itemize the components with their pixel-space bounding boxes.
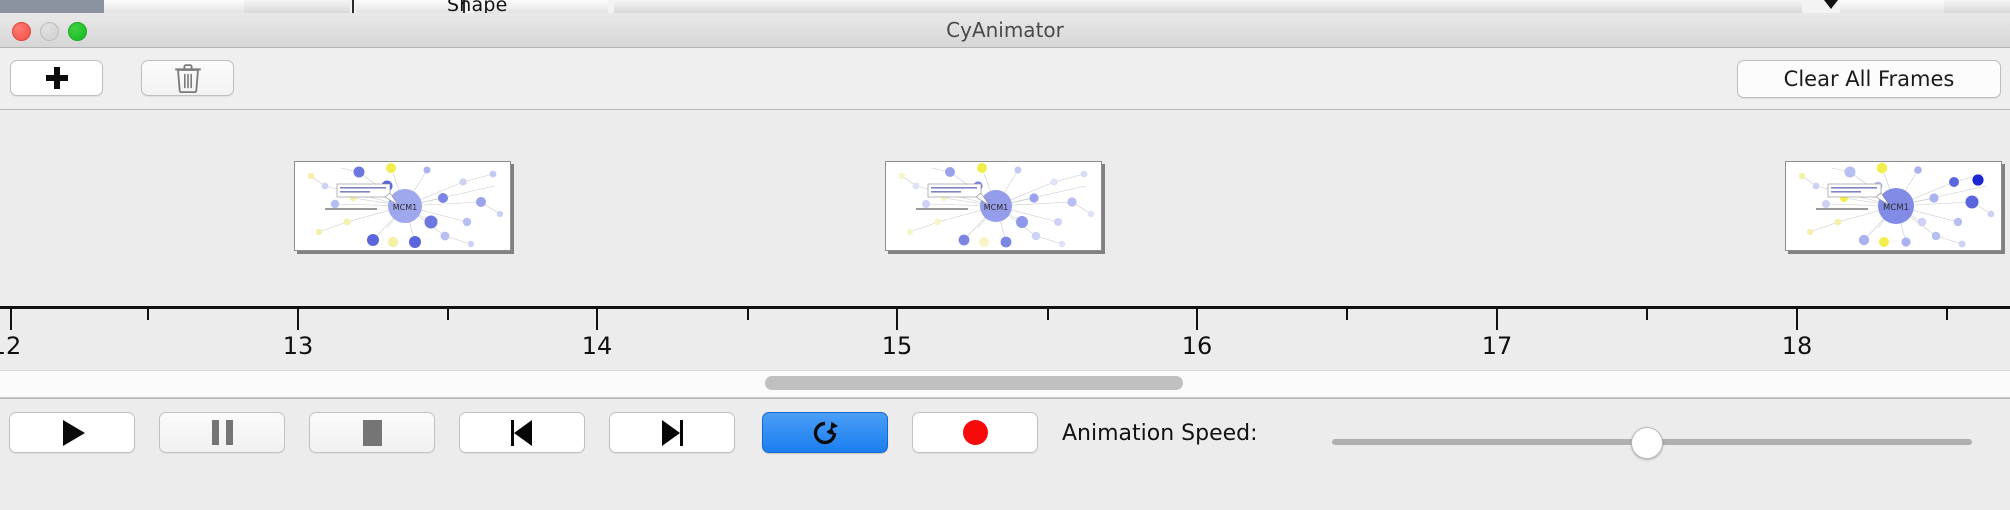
axis-tick-major bbox=[1196, 309, 1198, 330]
timeline-scrollbar[interactable] bbox=[0, 370, 2010, 398]
trash-icon bbox=[175, 63, 201, 93]
axis-tick-major bbox=[1496, 309, 1498, 330]
animation-speed-slider-thumb[interactable] bbox=[1631, 427, 1663, 459]
bg-segment-g bbox=[1944, 0, 2010, 13]
axis-tick-label: 15 bbox=[882, 332, 913, 360]
play-icon bbox=[63, 420, 85, 446]
bg-segment-a bbox=[104, 0, 244, 13]
record-icon bbox=[963, 420, 988, 445]
clear-all-frames-label: Clear All Frames bbox=[1784, 67, 1955, 91]
play-button[interactable] bbox=[9, 412, 135, 453]
pause-button[interactable] bbox=[159, 412, 285, 453]
axis-tick-major bbox=[596, 309, 598, 330]
frame-toolbar: Clear All Frames bbox=[0, 48, 2010, 110]
bg-segment-dark bbox=[0, 0, 104, 13]
timeline-scrollbar-thumb[interactable] bbox=[765, 376, 1183, 390]
axis-tick-major bbox=[896, 309, 898, 330]
axis-tick-label: 13 bbox=[283, 332, 314, 360]
timeline-axis-line bbox=[0, 306, 2010, 309]
axis-tick-label: 14 bbox=[582, 332, 613, 360]
playback-control-bar: Animation Speed: bbox=[0, 398, 2010, 467]
bg-segment-e bbox=[614, 0, 1802, 13]
loop-button[interactable] bbox=[762, 412, 888, 453]
axis-tick-minor bbox=[447, 309, 449, 320]
axis-tick-minor bbox=[747, 309, 749, 320]
add-frame-button[interactable] bbox=[10, 60, 103, 96]
axis-tick-minor bbox=[1946, 309, 1948, 320]
svg-text:MCM1: MCM1 bbox=[1883, 203, 1909, 213]
window-title: CyAnimator bbox=[0, 13, 2010, 47]
stop-button[interactable] bbox=[309, 412, 435, 453]
axis-tick-minor bbox=[147, 309, 149, 320]
network-graph-icon: MCM1 bbox=[1786, 162, 2001, 250]
cyanimator-window: CyAnimator Clear All Frames bbox=[0, 13, 2010, 510]
axis-tick-major bbox=[1796, 309, 1798, 330]
axis-tick-label: 18 bbox=[1782, 332, 1813, 360]
svg-text:MCM1: MCM1 bbox=[984, 203, 1008, 212]
axis-tick-label: 17 bbox=[1482, 332, 1513, 360]
skip-to-end-button[interactable] bbox=[609, 412, 735, 453]
timeline-frame-thumbnail-3[interactable]: MCM1 bbox=[1785, 161, 2002, 251]
axis-tick-major bbox=[10, 309, 12, 330]
axis-tick-label: 16 bbox=[1182, 332, 1213, 360]
bg-divider-1 bbox=[352, 0, 354, 13]
cyanimator-window-screenshot: Shape CyAnimator bbox=[0, 0, 2010, 510]
window-titlebar[interactable]: CyAnimator bbox=[0, 13, 2010, 48]
clear-all-frames-button[interactable]: Clear All Frames bbox=[1737, 60, 2001, 98]
axis-tick-label: 12 bbox=[0, 332, 21, 360]
stop-icon bbox=[363, 420, 382, 446]
skip-start-icon bbox=[509, 420, 535, 446]
bg-caret-icon bbox=[1824, 0, 1838, 9]
background-shape-label: Shape bbox=[447, 0, 508, 13]
axis-tick-minor bbox=[1646, 309, 1648, 320]
plus-icon bbox=[45, 66, 69, 90]
delete-frame-button[interactable] bbox=[141, 60, 234, 96]
axis-tick-minor bbox=[1047, 309, 1049, 320]
skip-to-start-button[interactable] bbox=[459, 412, 585, 453]
svg-text:MCM1: MCM1 bbox=[393, 203, 417, 212]
bg-segment-f bbox=[1840, 0, 1944, 13]
skip-end-icon bbox=[659, 420, 685, 446]
pause-icon bbox=[212, 420, 233, 445]
background-window-strip: Shape bbox=[0, 0, 2010, 13]
record-button[interactable] bbox=[912, 412, 1038, 453]
timeline-track[interactable]: MCM1 bbox=[0, 110, 2010, 370]
timeline-frame-thumbnail-2[interactable]: MCM1 bbox=[885, 161, 1102, 251]
network-graph-icon: MCM1 bbox=[886, 162, 1101, 250]
loop-icon bbox=[810, 418, 840, 448]
animation-speed-label: Animation Speed: bbox=[1062, 421, 1258, 446]
axis-tick-minor bbox=[1346, 309, 1348, 320]
network-graph-icon: MCM1 bbox=[295, 162, 510, 250]
axis-tick-major bbox=[297, 309, 299, 330]
bg-segment-b bbox=[244, 0, 350, 13]
timeline-frame-thumbnail-1[interactable]: MCM1 bbox=[294, 161, 511, 251]
